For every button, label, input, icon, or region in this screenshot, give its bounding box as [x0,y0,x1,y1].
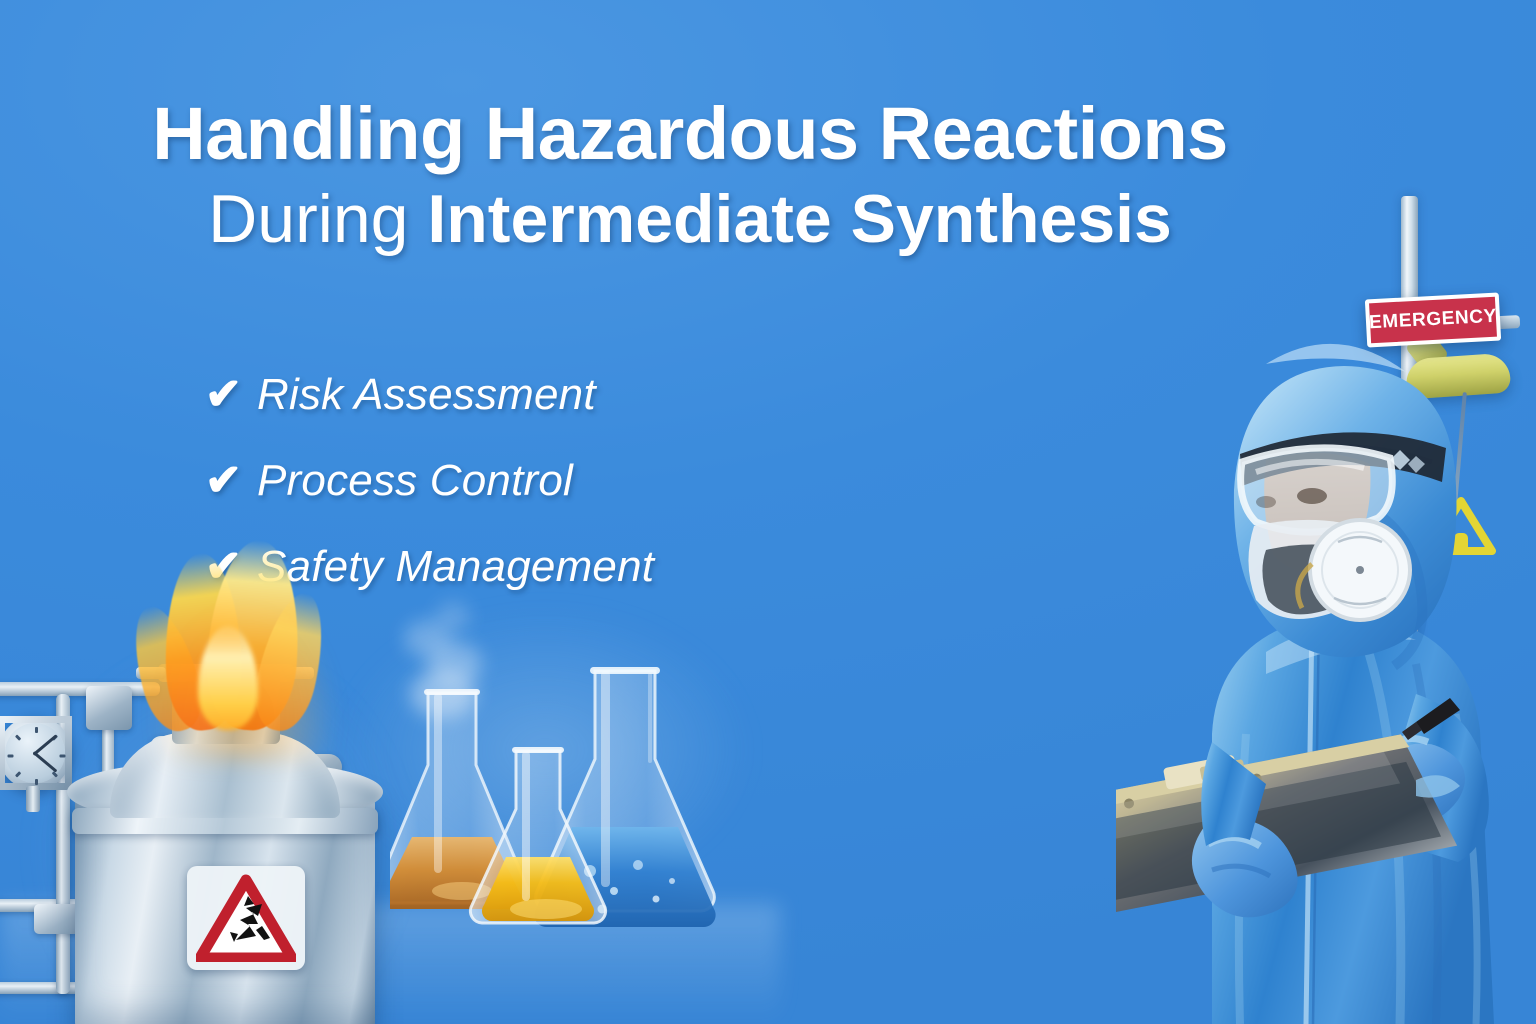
valve-upper [86,686,132,730]
title-word-during: During [208,181,408,257]
blue-flask [390,659,735,989]
list-item: ✔ Process Control [205,438,654,524]
explosion-hazard-icon [196,874,296,962]
pipe-top [0,682,160,696]
title-word-intermediate-synthesis: Intermediate Synthesis [427,181,1171,257]
check-icon: ✔ [205,373,257,417]
gauge-stem [26,786,40,812]
page-title: Handling Hazardous Reactions During Inte… [0,95,1380,257]
list-item: ✔ Risk Assessment [205,352,654,438]
flame-group [140,540,340,730]
title-line-secondary: During Intermediate Synthesis [0,181,1380,257]
check-icon: ✔ [205,459,257,503]
gauge-needle-b [33,751,58,773]
gauge-face [5,723,65,783]
pressure-gauge [0,716,72,790]
title-line-primary: Handling Hazardous Reactions [0,95,1380,173]
flask-group [390,659,735,989]
list-item-label: Process Control [257,456,573,506]
banner-canvas: Handling Hazardous Reactions During Inte… [0,0,1536,1024]
reactor-vessel-illustration [0,610,410,1024]
hazard-warning-sign [187,866,305,970]
list-item-label: Risk Assessment [257,370,596,420]
scientist-figure [1116,264,1536,1024]
